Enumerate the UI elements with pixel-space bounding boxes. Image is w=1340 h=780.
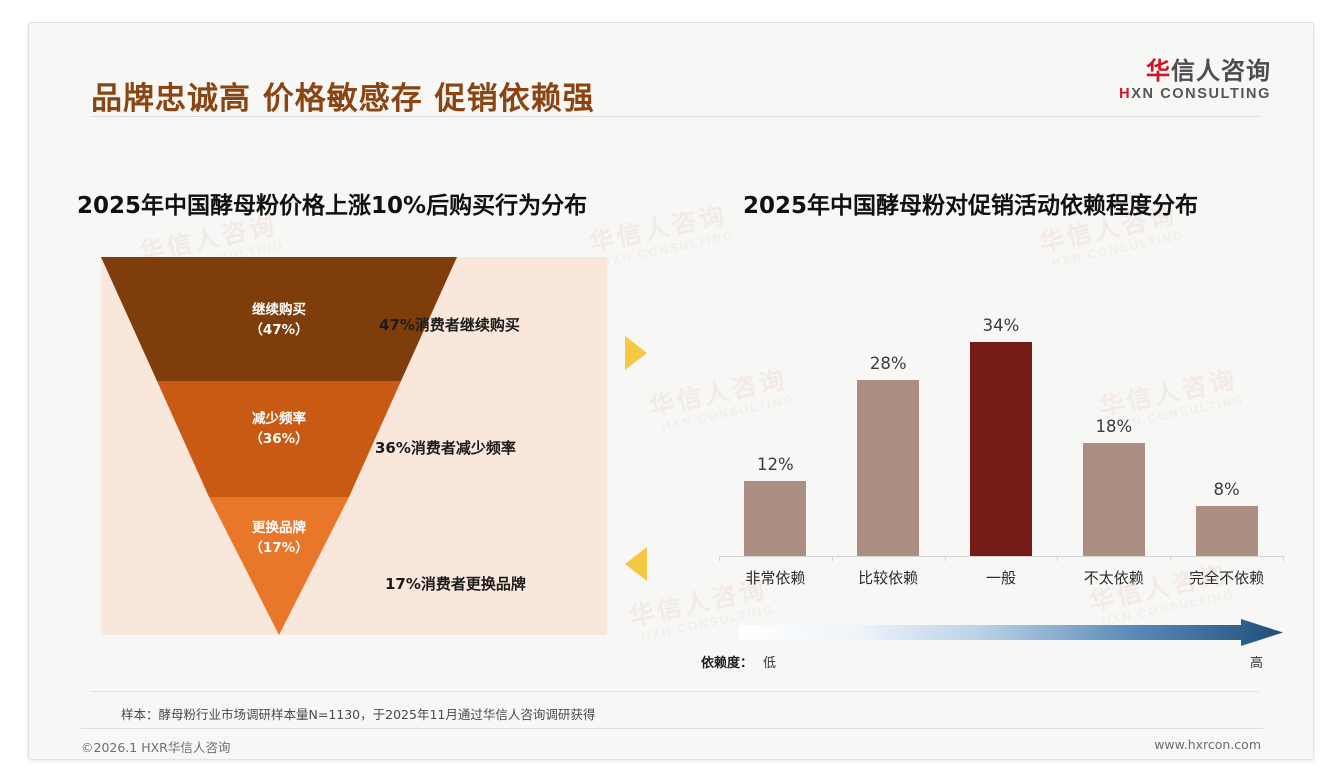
axis-tick — [945, 556, 946, 561]
footer-copyright: ©2026.1 HXR华信人咨询 — [81, 737, 230, 756]
bar-column: 28% — [838, 354, 938, 556]
bar-column: 12% — [725, 455, 825, 556]
legend-low-label: 低 — [763, 652, 776, 671]
funnel-segment-1-value: （47%） — [249, 322, 308, 338]
bar-rect — [1083, 443, 1145, 556]
funnel-segment-2-label: 减少频率 （36%） — [249, 410, 308, 449]
header-divider — [91, 116, 1259, 117]
left-chart-title: 2025年中国酵母粉价格上涨10%后购买行为分布 — [77, 186, 587, 220]
bar-category-label: 非常依赖 — [716, 567, 834, 588]
axis-tick — [1283, 556, 1284, 561]
funnel-annotation-3: 17%消费者更换品牌 — [385, 573, 526, 594]
funnel-segment-1-label: 继续购买 （47%） — [249, 301, 308, 340]
right-chart-title: 2025年中国酵母粉对促销活动依赖程度分布 — [743, 186, 1198, 220]
bar-value-label: 34% — [951, 316, 1051, 335]
axis-tick — [719, 556, 720, 561]
funnel-segment-3-name: 更换品牌 — [252, 520, 306, 536]
funnel-segment-2-name: 减少频率 — [252, 411, 306, 427]
bar-axis-line — [719, 556, 1283, 557]
legend-caption: 依赖度： — [701, 652, 753, 671]
watermark: 华信人咨询 HXN CONSULTING — [586, 195, 736, 272]
bar-rect — [970, 342, 1032, 556]
footer-divider — [81, 728, 1263, 729]
bar-category-label: 一般 — [942, 567, 1060, 588]
funnel-segment-1-name: 继续购买 — [252, 302, 306, 318]
slide-canvas: 华信人咨询 HXN CONSULTING 华信人咨询 HXN CONSULTIN… — [0, 0, 1340, 780]
funnel-segment-3 — [209, 497, 349, 635]
bar-rect — [1196, 506, 1258, 556]
funnel-segment-3-label: 更换品牌 （17%） — [249, 519, 308, 558]
bar-value-label: 8% — [1177, 480, 1277, 499]
watermark-en: HXN CONSULTING — [600, 228, 735, 270]
bar-column: 18% — [1064, 417, 1164, 556]
bar-plot-area: 12%28%34%18%8% — [719, 271, 1283, 556]
funnel-segment-2-value: （36%） — [249, 431, 308, 447]
bar-column: 8% — [1177, 480, 1277, 556]
funnel-segment-3-value: （17%） — [249, 540, 308, 556]
watermark-en: HXN CONSULTING — [1050, 228, 1185, 270]
funnel-annotation-2: 36%消费者减少频率 — [375, 437, 516, 458]
watermark-cn: 华信人咨询 — [586, 195, 733, 260]
funnel-annotation-1: 47%消费者继续购买 — [379, 314, 520, 335]
gradient-arrow-icon — [701, 619, 1301, 649]
axis-tick — [832, 556, 833, 561]
axis-tick — [1170, 556, 1171, 561]
bar-rect — [744, 481, 806, 556]
bar-column: 34% — [951, 316, 1051, 556]
bar-category-label: 完全不依赖 — [1168, 567, 1286, 588]
bar-category-label: 比较依赖 — [829, 567, 947, 588]
play-right-triangle-icon — [625, 336, 647, 370]
play-left-triangle-icon — [625, 547, 647, 581]
dependency-legend: 依赖度： 低 高 — [701, 619, 1301, 679]
page-title: 品牌忠诚高 价格敏感存 促销依赖强 — [91, 73, 595, 118]
funnel-shapes — [101, 257, 607, 635]
slide-header: 品牌忠诚高 价格敏感存 促销依赖强 华信人咨询 HXN CONSULTING — [29, 23, 1313, 119]
logo-english-rest: XN CONSULTING — [1131, 86, 1271, 102]
legend-high-label: 高 — [1250, 652, 1263, 671]
sample-divider — [91, 691, 1259, 692]
funnel-chart: 继续购买 （47%） 减少频率 （36%） 更换品牌 （17%） 47%消费者继… — [101, 257, 607, 635]
logo-en-accent-char: H — [1119, 86, 1131, 102]
footer-website: www.hxrcon.com — [1154, 737, 1261, 752]
logo-chinese: 华信人咨询 — [1119, 59, 1271, 84]
slide-page: 华信人咨询 HXN CONSULTING 华信人咨询 HXN CONSULTIN… — [28, 22, 1314, 760]
bar-value-label: 28% — [838, 354, 938, 373]
logo-accent-char: 华 — [1146, 57, 1171, 85]
sample-note: 样本：酵母粉行业市场调研样本量N=1130，于2025年11月通过华信人咨询调研… — [121, 704, 595, 723]
bar-category-label: 不太依赖 — [1055, 567, 1173, 588]
bar-value-label: 18% — [1064, 417, 1164, 436]
bar-chart: 12%28%34%18%8% 非常依赖比较依赖一般不太依赖完全不依赖 — [701, 271, 1301, 601]
bar-value-label: 12% — [725, 455, 825, 474]
logo-chinese-rest: 信人咨询 — [1171, 57, 1271, 85]
logo-english: HXN CONSULTING — [1119, 87, 1271, 102]
bar-rect — [857, 380, 919, 556]
axis-tick — [1057, 556, 1058, 561]
brand-logo: 华信人咨询 HXN CONSULTING — [1119, 59, 1271, 102]
